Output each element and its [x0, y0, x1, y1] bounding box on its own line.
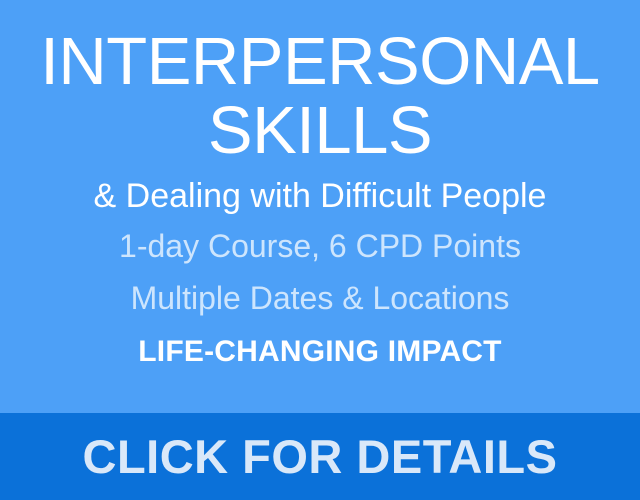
course-detail-locations: Multiple Dates & Locations [0, 272, 640, 324]
advertisement-banner[interactable]: INTERPERSONAL SKILLS & Dealing with Diff… [0, 0, 640, 500]
headline-line-1: INTERPERSONAL [0, 26, 640, 97]
course-detail-duration: 1-day Course, 6 CPD Points [0, 220, 640, 272]
impact-tagline: LIFE-CHANGING IMPACT [0, 332, 640, 372]
cta-label[interactable]: CLICK FOR DETAILS [83, 432, 558, 482]
banner-subtitle: & Dealing with Difficult People [0, 174, 640, 218]
banner-content: INTERPERSONAL SKILLS & Dealing with Diff… [0, 0, 640, 413]
headline-line-2: SKILLS [0, 95, 640, 166]
cta-bar[interactable]: CLICK FOR DETAILS [0, 413, 640, 500]
